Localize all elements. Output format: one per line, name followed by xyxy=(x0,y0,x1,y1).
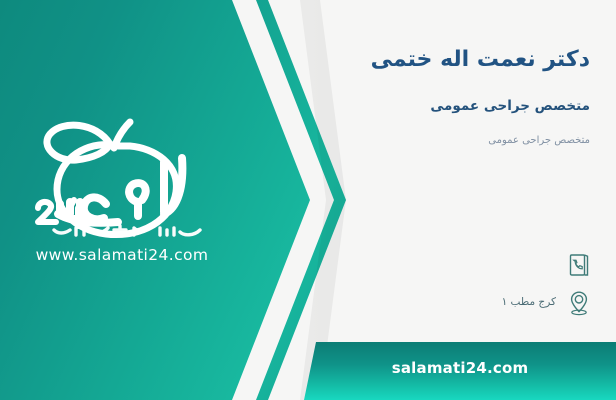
info-pane: دکتر نعمت اله ختمی متخصص جراحی عمومی متخ… xyxy=(326,0,616,400)
contact-location-label: کرج مطب ۱ xyxy=(502,296,556,310)
phone-book-icon[interactable] xyxy=(564,250,594,280)
logo-website-url: www.salamati24.com xyxy=(14,246,230,264)
footer-bar: salamati24.com xyxy=(304,342,616,400)
doctor-name: دکتر نعمت اله ختمی xyxy=(334,46,590,75)
contact-list: کرج مطب ۱ xyxy=(344,250,594,326)
brand-logo: www.salamati24.com xyxy=(14,104,230,274)
footer-website-url[interactable]: salamati24.com xyxy=(392,359,529,377)
map-pin-icon[interactable] xyxy=(564,288,594,318)
doctor-specialty-primary: متخصص جراحی عمومی xyxy=(334,97,590,116)
doctor-specialty-secondary: متخصص جراحی عمومی xyxy=(334,134,590,148)
business-card: www.salamati24.com دکتر نعمت اله ختمی مت… xyxy=(0,0,616,400)
salamati24-logo-icon xyxy=(14,104,230,244)
contact-row-location[interactable]: کرج مطب ۱ xyxy=(344,288,594,318)
contact-row-phone[interactable] xyxy=(344,250,594,280)
